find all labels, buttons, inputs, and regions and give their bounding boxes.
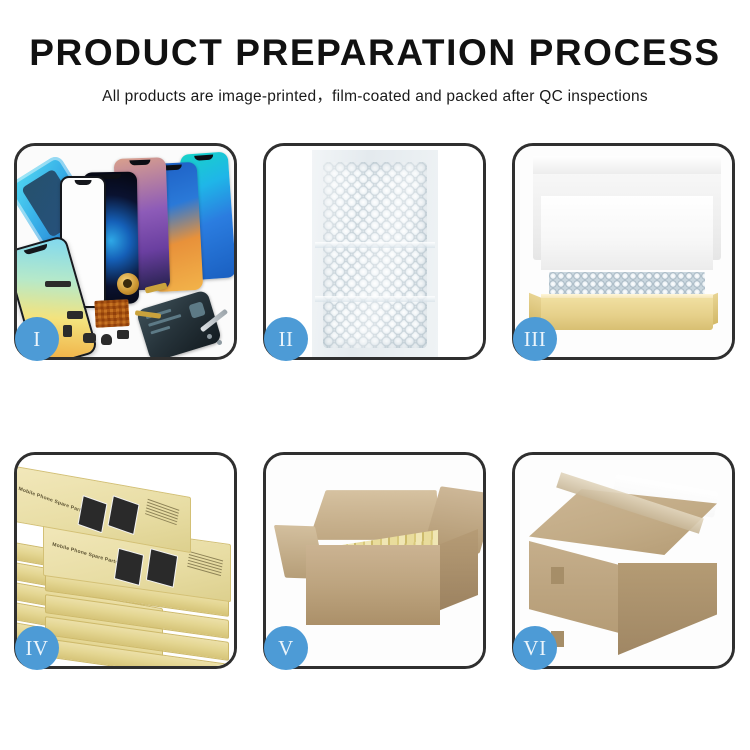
- connector-4: [101, 334, 112, 345]
- carton-front-face: [306, 545, 440, 625]
- step-badge-4: IV: [15, 626, 59, 670]
- retail-box-window-b: [146, 548, 178, 588]
- page-title: PRODUCT PREPARATION PROCESS: [0, 34, 750, 73]
- retail-box-label: Mobile Phone Spare Parts: [52, 542, 119, 566]
- process-panel-5[interactable]: V: [263, 452, 486, 669]
- process-panel-2[interactable]: II: [263, 143, 486, 360]
- retail-box-label: Mobile Phone Spare Parts: [18, 486, 85, 515]
- retail-box-window-a: [114, 548, 144, 586]
- speaker-component-icon: [117, 273, 139, 295]
- process-panel-1[interactable]: I: [14, 143, 237, 360]
- carton-tab-upper: [551, 567, 564, 584]
- process-panel-4[interactable]: Mobile Phone Spare Parts Mobile Phone Sp…: [14, 452, 237, 669]
- box-lid-fold: [533, 156, 721, 174]
- bubble-wrap-highlight: [323, 162, 427, 348]
- process-panel-3[interactable]: III: [512, 143, 735, 360]
- page-subtitle: All products are image-printed，film-coat…: [0, 84, 750, 106]
- box-front-panel: [541, 298, 713, 330]
- step-badge-2: II: [264, 317, 308, 361]
- component-bar: [45, 281, 71, 287]
- retail-box-spec-lines: [187, 551, 223, 578]
- process-panel-grid: I II III: [14, 143, 736, 669]
- retail-box-window-a: [77, 495, 107, 533]
- bubble-wrap-seam-bottom: [315, 296, 435, 302]
- connector-1: [67, 311, 83, 319]
- retail-box-spec-lines: [145, 499, 180, 527]
- screw-1: [217, 340, 222, 345]
- screw-2: [207, 334, 212, 339]
- step-badge-3: III: [513, 317, 557, 361]
- step-badge-6: VI: [513, 626, 557, 670]
- connector-2: [63, 325, 72, 337]
- connector-3: [83, 333, 96, 343]
- retail-box-window-b: [107, 495, 139, 535]
- connector-5: [117, 330, 129, 339]
- sealed-carton-right-face: [618, 563, 717, 655]
- foam-insert: [541, 196, 713, 270]
- sealed-carton-left-face: [529, 541, 619, 633]
- process-panel-6[interactable]: VI: [512, 452, 735, 669]
- step-badge-5: V: [264, 626, 308, 670]
- bubble-wrap-seam-top: [315, 242, 435, 248]
- infographic-page: PRODUCT PREPARATION PROCESS All products…: [0, 0, 750, 750]
- step-badge-1: I: [15, 317, 59, 361]
- chip-array-icon: [94, 299, 129, 328]
- header: PRODUCT PREPARATION PROCESS All products…: [0, 0, 750, 106]
